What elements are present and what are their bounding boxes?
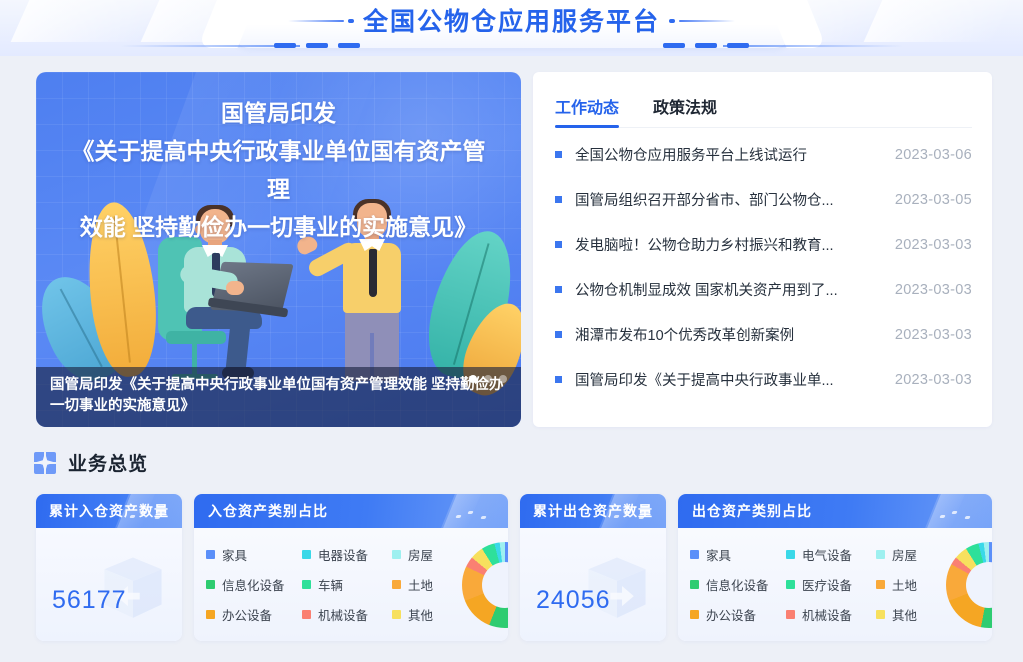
legend-swatch bbox=[302, 610, 311, 619]
legend-item[interactable]: 家具 bbox=[690, 545, 786, 564]
legend-label: 其他 bbox=[408, 605, 433, 624]
inbound-total-value: 56177 bbox=[52, 586, 127, 615]
legend-swatch bbox=[690, 550, 699, 559]
legend-swatch bbox=[206, 610, 215, 619]
card-title: 累计入仓资产数量 bbox=[36, 494, 182, 528]
bullet-square-icon bbox=[555, 151, 562, 158]
bullet-square-icon bbox=[555, 196, 562, 203]
card-body: 家具 电器设备 房屋 信息化设备 bbox=[194, 528, 508, 641]
card-title: 出仓资产类别占比 bbox=[678, 494, 992, 528]
overview-cards: 累计入仓资产数量 56177 入仓资产类别占比 bbox=[0, 476, 1023, 641]
news-item-title: 湘潭市发布10个优秀改革创新案例 bbox=[575, 324, 895, 345]
legend-label: 家具 bbox=[222, 545, 247, 564]
header-sheen-decoration bbox=[864, 0, 1013, 42]
legend-item[interactable]: 电气设备 bbox=[786, 545, 876, 564]
card-inbound-total: 累计入仓资产数量 56177 bbox=[36, 494, 182, 641]
legend-swatch bbox=[302, 550, 311, 559]
bullet-square-icon bbox=[555, 241, 562, 248]
legend-swatch bbox=[876, 580, 885, 589]
carousel-dot-1[interactable] bbox=[469, 375, 477, 383]
legend-item[interactable]: 其他 bbox=[876, 605, 946, 624]
header-right-dash-decoration bbox=[669, 19, 737, 23]
legend-label: 信息化设备 bbox=[222, 575, 285, 594]
legend-label: 土地 bbox=[892, 575, 917, 594]
legend-item[interactable]: 土地 bbox=[392, 575, 462, 594]
app-header: 全国公物仓应用服务平台 bbox=[0, 0, 1023, 56]
header-baseline-right-decoration bbox=[663, 43, 903, 48]
carousel-dot-2[interactable] bbox=[484, 375, 492, 383]
legend-swatch bbox=[302, 580, 311, 589]
tab-policies-regulations[interactable]: 政策法规 bbox=[653, 94, 717, 127]
legend-item[interactable]: 车辆 bbox=[302, 575, 392, 594]
card-title: 入仓资产类别占比 bbox=[194, 494, 508, 528]
legend-swatch bbox=[876, 550, 885, 559]
legend-swatch bbox=[876, 610, 885, 619]
page-title: 全国公物仓应用服务平台 bbox=[363, 0, 660, 44]
legend-label: 电气设备 bbox=[802, 545, 852, 564]
banner-title-line-3: 效能 坚持勤俭办一切事业的实施意见》 bbox=[62, 208, 495, 246]
legend-item[interactable]: 机械设备 bbox=[786, 605, 876, 624]
news-panel: 工作动态 政策法规 全国公物仓应用服务平台上线试运行 2023-03-06 国管… bbox=[533, 72, 992, 427]
header-left-dash-decoration bbox=[286, 19, 354, 23]
legend-label: 办公设备 bbox=[706, 605, 756, 624]
bullet-square-icon bbox=[555, 331, 562, 338]
outbound-total-value: 24056 bbox=[536, 586, 611, 615]
banner-title-line-2: 《关于提高中央行政事业单位国有资产管理 bbox=[62, 132, 495, 208]
card-header: 入仓资产类别占比 bbox=[194, 494, 508, 528]
card-body: 家具 电气设备 房屋 信息化设备 bbox=[678, 528, 992, 641]
tab-work-updates[interactable]: 工作动态 bbox=[555, 94, 619, 127]
news-item-title: 国管局组织召开部分省市、部门公物仓... bbox=[575, 189, 895, 210]
news-carousel-banner[interactable]: 国管局印发 《关于提高中央行政事业单位国有资产管理 效能 坚持勤俭办一切事业的实… bbox=[36, 72, 521, 427]
legend-item[interactable]: 办公设备 bbox=[206, 605, 302, 624]
card-body: 24056 bbox=[520, 528, 666, 641]
legend-item[interactable]: 信息化设备 bbox=[690, 575, 786, 594]
header-sheen-decoration bbox=[11, 0, 160, 42]
news-tabs: 工作动态 政策法规 bbox=[555, 86, 972, 128]
legend-swatch bbox=[392, 610, 401, 619]
carousel-indicator-dots[interactable] bbox=[469, 375, 507, 383]
news-list: 全国公物仓应用服务平台上线试运行 2023-03-06 国管局组织召开部分省市、… bbox=[555, 128, 972, 402]
legend-label: 医疗设备 bbox=[802, 575, 852, 594]
chart-legend: 家具 电器设备 房屋 信息化设备 bbox=[206, 540, 462, 630]
card-header: 累计入仓资产数量 bbox=[36, 494, 182, 528]
legend-swatch bbox=[786, 550, 795, 559]
news-item-title: 公物仓机制显成效 国家机关资产用到了... bbox=[575, 279, 895, 300]
card-header: 出仓资产类别占比 bbox=[678, 494, 992, 528]
news-list-item[interactable]: 全国公物仓应用服务平台上线试运行 2023-03-06 bbox=[555, 132, 972, 177]
legend-swatch bbox=[392, 550, 401, 559]
legend-label: 办公设备 bbox=[222, 605, 272, 624]
legend-label: 房屋 bbox=[408, 545, 433, 564]
news-item-title: 发电脑啦！公物仓助力乡村振兴和教育... bbox=[575, 234, 895, 255]
legend-label: 房屋 bbox=[892, 545, 917, 564]
banner-title-line-1: 国管局印发 bbox=[62, 94, 495, 132]
card-inbound-category-share: 入仓资产类别占比 家具 电器设备 房屋 bbox=[194, 494, 508, 641]
news-item-date: 2023-03-03 bbox=[895, 282, 972, 298]
legend-item[interactable]: 医疗设备 bbox=[786, 575, 876, 594]
legend-item[interactable]: 其他 bbox=[392, 605, 462, 624]
legend-item[interactable]: 家具 bbox=[206, 545, 302, 564]
legend-label: 电器设备 bbox=[318, 545, 368, 564]
legend-swatch bbox=[690, 580, 699, 589]
legend-label: 机械设备 bbox=[802, 605, 852, 624]
card-header: 累计出仓资产数量 bbox=[520, 494, 666, 528]
carousel-dot-3[interactable] bbox=[499, 375, 507, 383]
legend-label: 其他 bbox=[892, 605, 917, 624]
overview-section-title: 业务总览 bbox=[68, 449, 148, 476]
card-outbound-category-share: 出仓资产类别占比 家具 电气设备 房屋 bbox=[678, 494, 992, 641]
legend-item[interactable]: 信息化设备 bbox=[206, 575, 302, 594]
legend-item[interactable]: 土地 bbox=[876, 575, 946, 594]
header-baseline-left-decoration bbox=[120, 43, 360, 48]
legend-item[interactable]: 电器设备 bbox=[302, 545, 392, 564]
card-outbound-total: 累计出仓资产数量 24056 bbox=[520, 494, 666, 641]
legend-label: 家具 bbox=[706, 545, 731, 564]
legend-label: 信息化设备 bbox=[706, 575, 769, 594]
bullet-square-icon bbox=[555, 286, 562, 293]
legend-label: 土地 bbox=[408, 575, 433, 594]
banner-title: 国管局印发 《关于提高中央行政事业单位国有资产管理 效能 坚持勤俭办一切事业的实… bbox=[36, 72, 521, 246]
legend-item[interactable]: 办公设备 bbox=[690, 605, 786, 624]
news-item-date: 2023-03-03 bbox=[895, 372, 972, 388]
news-item-title: 国管局印发《关于提高中央行政事业单... bbox=[575, 369, 895, 390]
legend-label: 车辆 bbox=[318, 575, 343, 594]
overview-section-header: 业务总览 bbox=[0, 427, 1023, 476]
news-item-date: 2023-03-03 bbox=[895, 237, 972, 253]
legend-item[interactable]: 房屋 bbox=[392, 545, 462, 564]
legend-swatch bbox=[690, 610, 699, 619]
legend-swatch bbox=[786, 580, 795, 589]
inbound-donut-chart[interactable] bbox=[462, 542, 508, 628]
sparkle-icon bbox=[34, 452, 56, 474]
legend-item[interactable]: 机械设备 bbox=[302, 605, 392, 624]
bullet-square-icon bbox=[555, 376, 562, 383]
legend-label: 机械设备 bbox=[318, 605, 368, 624]
chart-legend: 家具 电气设备 房屋 信息化设备 bbox=[690, 540, 946, 630]
news-item-title: 全国公物仓应用服务平台上线试运行 bbox=[575, 144, 895, 165]
legend-item[interactable]: 房屋 bbox=[876, 545, 946, 564]
news-list-item[interactable]: 发电脑啦！公物仓助力乡村振兴和教育... 2023-03-03 bbox=[555, 222, 972, 267]
main-content: 国管局印发 《关于提高中央行政事业单位国有资产管理 效能 坚持勤俭办一切事业的实… bbox=[0, 56, 1023, 641]
top-row: 国管局印发 《关于提高中央行政事业单位国有资产管理 效能 坚持勤俭办一切事业的实… bbox=[0, 56, 1023, 427]
card-body: 56177 bbox=[36, 528, 182, 641]
news-item-date: 2023-03-05 bbox=[895, 192, 972, 208]
legend-swatch bbox=[786, 610, 795, 619]
outbound-donut-chart[interactable] bbox=[946, 542, 992, 628]
news-list-item[interactable]: 国管局印发《关于提高中央行政事业单... 2023-03-03 bbox=[555, 357, 972, 402]
news-list-item[interactable]: 国管局组织召开部分省市、部门公物仓... 2023-03-05 bbox=[555, 177, 972, 222]
news-list-item[interactable]: 湘潭市发布10个优秀改革创新案例 2023-03-03 bbox=[555, 312, 972, 357]
news-item-date: 2023-03-06 bbox=[895, 147, 972, 163]
banner-caption: 国管局印发《关于提高中央行政事业单位国有资产管理效能 坚持勤俭办一切事业的实施意… bbox=[36, 367, 521, 427]
card-title: 累计出仓资产数量 bbox=[520, 494, 666, 528]
legend-swatch bbox=[206, 580, 215, 589]
news-item-date: 2023-03-03 bbox=[895, 327, 972, 343]
legend-swatch bbox=[206, 550, 215, 559]
legend-swatch bbox=[392, 580, 401, 589]
news-list-item[interactable]: 公物仓机制显成效 国家机关资产用到了... 2023-03-03 bbox=[555, 267, 972, 312]
